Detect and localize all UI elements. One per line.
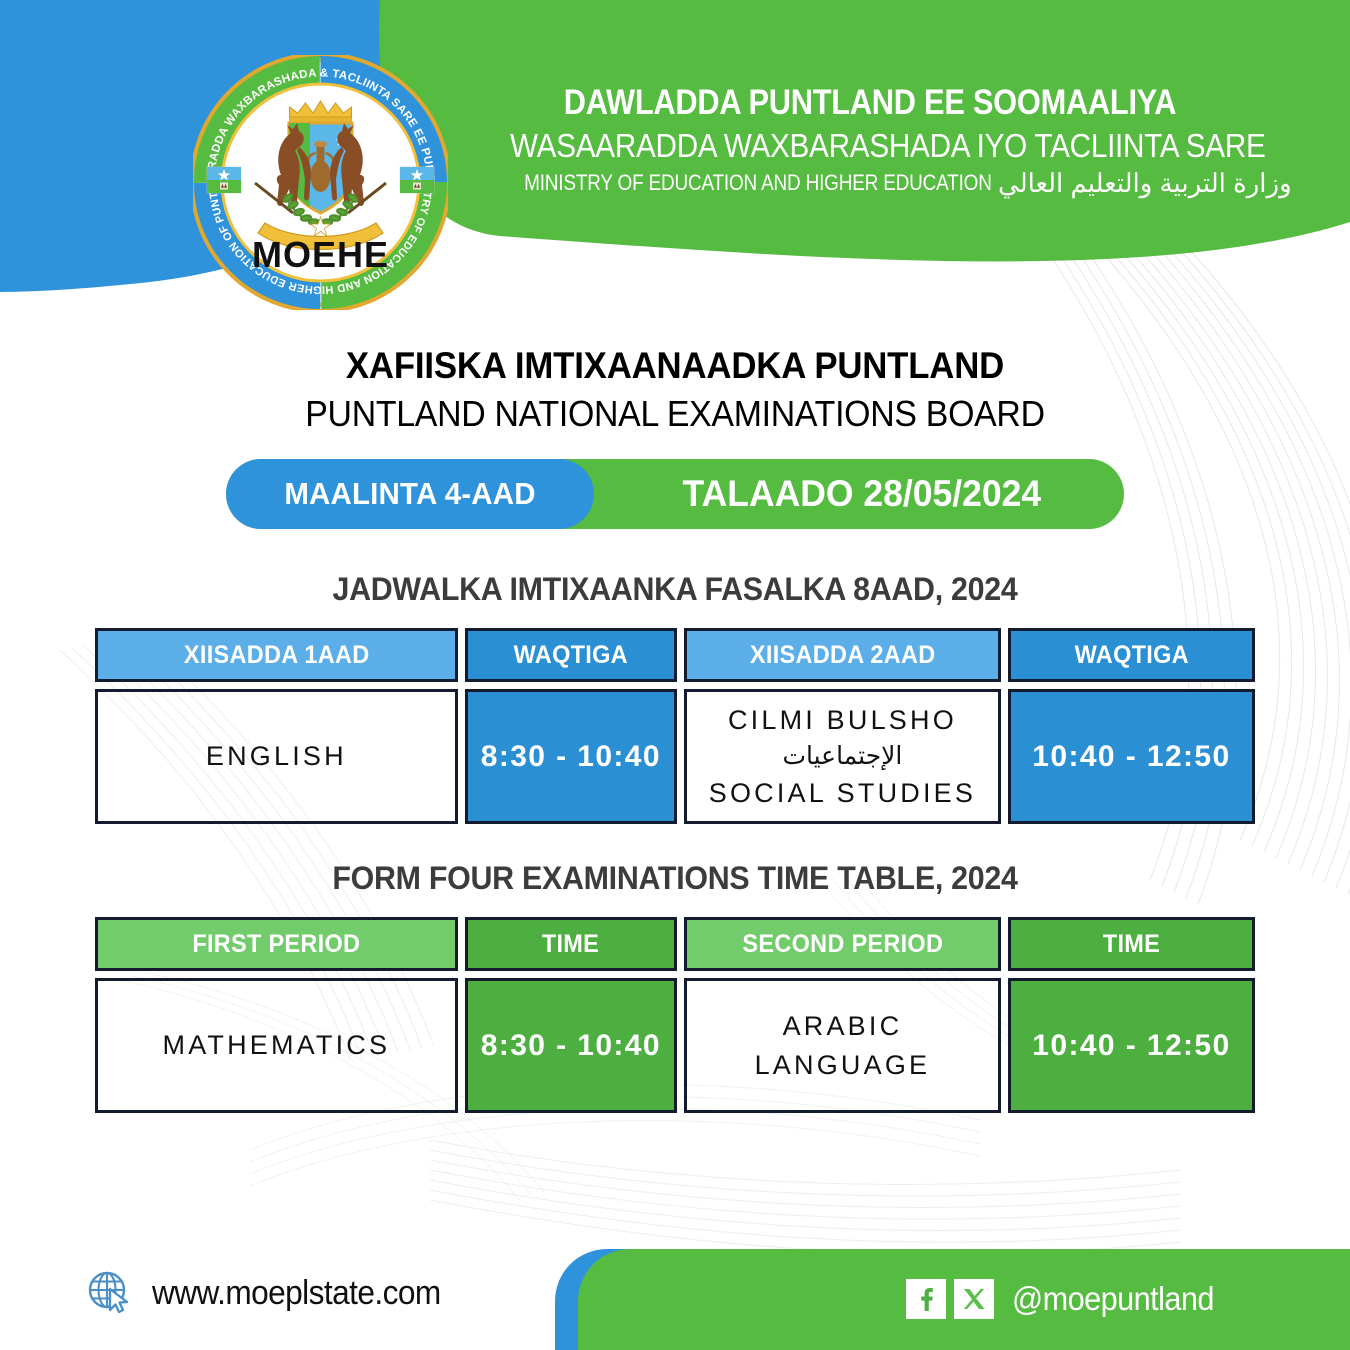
grade8-subject1: ENGLISH [206, 737, 347, 775]
header-text-block: DAWLADDA PUNTLAND EE SOOMAALIYA WASAARAD… [470, 82, 1270, 196]
grade8-subject2-arabic: الإجتماعيات [782, 739, 902, 774]
grade8-time1: 8:30 - 10:40 [481, 740, 661, 774]
grade8-header-time1: WAQTIGA [465, 628, 677, 682]
header-title-line2: WASAARADDA WAXBARASHADA IYO TACLIINTA SA… [510, 125, 1230, 166]
header-ministry-english: MINISTRY OF EDUCATION AND HIGHER EDUCATI… [524, 170, 992, 196]
badge-date-label: TALAADO 28/05/2024 [605, 459, 1114, 529]
svg-text:MOEHE: MOEHE [252, 234, 389, 275]
form4-subject1-cell: MATHEMATICS [95, 978, 458, 1113]
grade8-header-period2: XIISADDA 2AAD [684, 628, 1001, 682]
form4-header-period1: FIRST PERIOD [95, 917, 458, 971]
moehe-logo: WASAARADDA WAXBARASHADA & TACLIINTA SARE… [193, 55, 448, 310]
grade8-subject1-cell: ENGLISH [95, 689, 458, 824]
grade8-header-row: XIISADDA 1AAD WAQTIGA XIISADDA 2AAD WAQT… [95, 628, 1255, 682]
form4-time1: 8:30 - 10:40 [481, 1029, 661, 1063]
form4-subject2-cell: ARABIC LANGUAGE [684, 978, 1001, 1113]
form4-header-time2: TIME [1008, 917, 1255, 971]
header-title-line3: MINISTRY OF EDUCATION AND HIGHER EDUCATI… [470, 170, 1270, 196]
form4-header-time1: TIME [465, 917, 677, 971]
x-twitter-icon[interactable] [954, 1279, 994, 1319]
social-handle[interactable]: @moepuntland [1012, 1280, 1214, 1318]
form4-data-row: MATHEMATICS 8:30 - 10:40 ARABIC LANGUAGE… [95, 978, 1255, 1113]
grade8-subject2-cell: CILMI BULSHO الإجتماعيات SOCIAL STUDIES [684, 689, 1001, 824]
form4-time1-cell: 8:30 - 10:40 [465, 978, 677, 1113]
facebook-icon[interactable] [906, 1279, 946, 1319]
globe-cursor-icon [86, 1269, 134, 1317]
main-content: XAFIISKA IMTIXAANAADKA PUNTLAND PUNTLAND… [0, 300, 1350, 1113]
website-url[interactable]: www.moeplstate.com [152, 1274, 441, 1313]
form4-subject1: MATHEMATICS [163, 1026, 391, 1064]
page-footer: www.moeplstate.com @moepuntland [0, 1243, 1350, 1350]
form4-time2: 10:40 - 12:50 [1032, 1029, 1230, 1063]
day-date-badge: MAALINTA 4-AAD TALAADO 28/05/2024 [226, 459, 1124, 529]
header-title-line1: DAWLADDA PUNTLAND EE SOOMAALIYA [518, 82, 1222, 123]
page-title-english: PUNTLAND NATIONAL EXAMINATIONS BOARD [41, 393, 1310, 435]
form4-section-heading: FORM FOUR EXAMINATIONS TIME TABLE, 2024 [34, 860, 1317, 897]
badge-day-label: MAALINTA 4-AAD [235, 459, 585, 529]
grade8-header-period1: XIISADDA 1AAD [95, 628, 458, 682]
grade8-subject2-somali: CILMI BULSHO [728, 701, 957, 739]
form4-subject2-line2: LANGUAGE [755, 1046, 931, 1084]
form4-timetable: FIRST PERIOD TIME SECOND PERIOD TIME MAT… [95, 917, 1255, 1113]
page-header: WASAARADDA WAXBARASHADA & TACLIINTA SARE… [0, 0, 1350, 300]
grade8-subject2-english: SOCIAL STUDIES [709, 774, 976, 812]
form4-header-row: FIRST PERIOD TIME SECOND PERIOD TIME [95, 917, 1255, 971]
header-ministry-arabic: وزارة التربية والتعليم العالي [998, 170, 1292, 196]
footer-social-group[interactable]: @moepuntland [906, 1279, 1229, 1319]
grade8-time2: 10:40 - 12:50 [1032, 740, 1230, 774]
grade8-time1-cell: 8:30 - 10:40 [465, 689, 677, 824]
form4-subject2-line1: ARABIC [783, 1007, 903, 1045]
form4-header-period2: SECOND PERIOD [684, 917, 1001, 971]
footer-website-group[interactable]: www.moeplstate.com [86, 1269, 462, 1317]
grade8-section-heading: JADWALKA IMTIXAANKA FASALKA 8AAD, 2024 [34, 571, 1317, 608]
grade8-header-time2: WAQTIGA [1008, 628, 1255, 682]
page-title: XAFIISKA IMTIXAANAADKA PUNTLAND PUNTLAND… [0, 300, 1350, 435]
page-title-somali: XAFIISKA IMTIXAANAADKA PUNTLAND [41, 345, 1310, 387]
grade8-data-row: ENGLISH 8:30 - 10:40 CILMI BULSHO الإجتم… [95, 689, 1255, 824]
form4-time2-cell: 10:40 - 12:50 [1008, 978, 1255, 1113]
grade8-timetable: XIISADDA 1AAD WAQTIGA XIISADDA 2AAD WAQT… [95, 628, 1255, 824]
grade8-time2-cell: 10:40 - 12:50 [1008, 689, 1255, 824]
